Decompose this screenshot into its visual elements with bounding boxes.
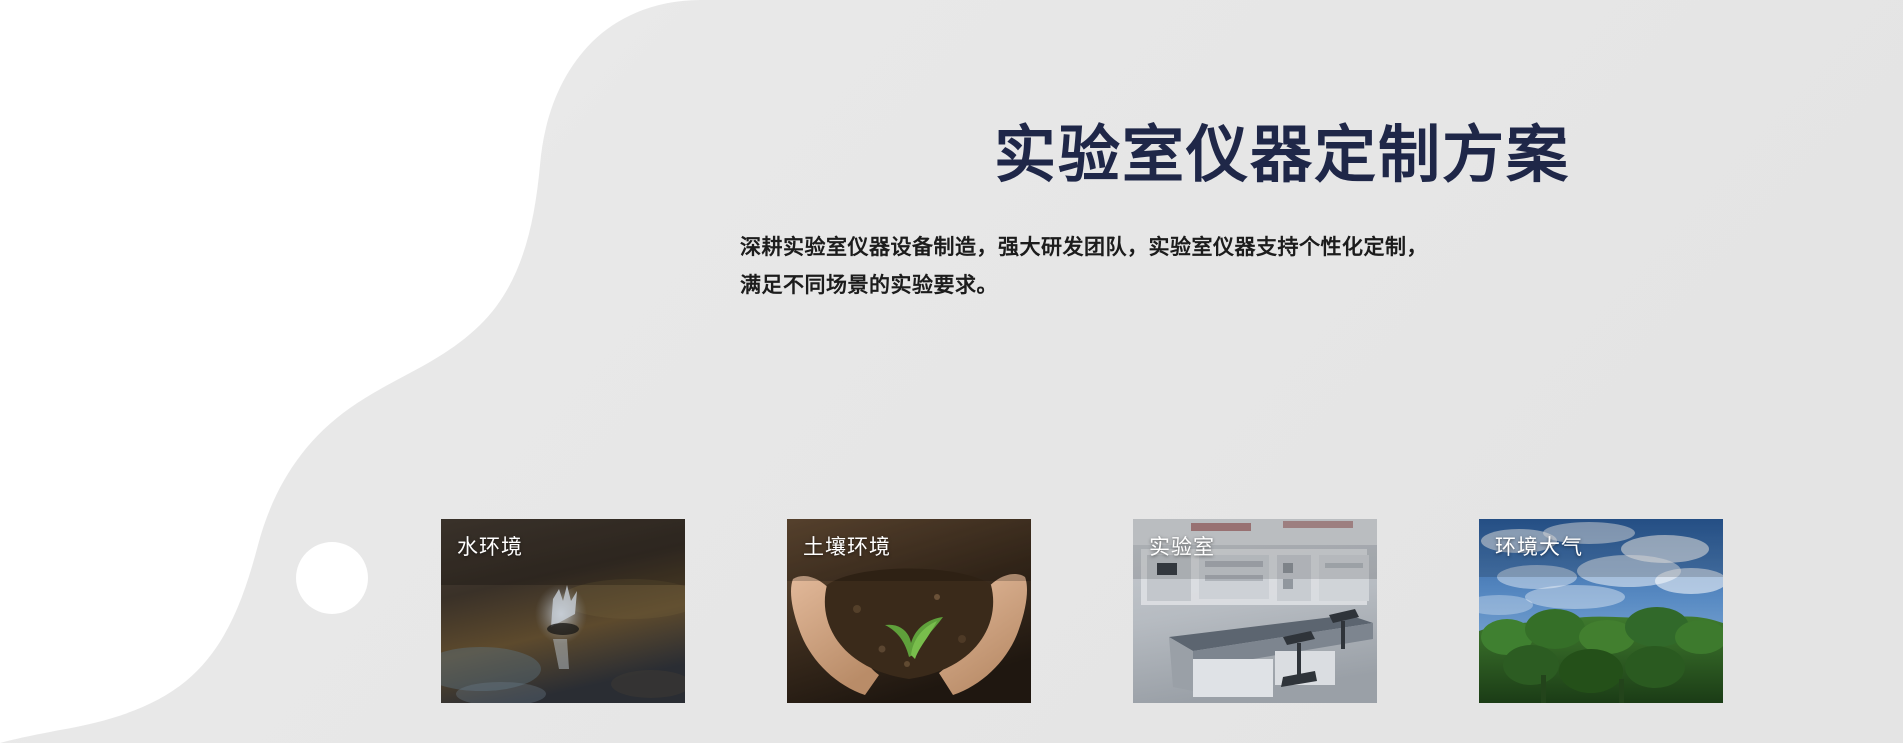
card-label: 实验室: [1149, 531, 1215, 561]
card-laboratory[interactable]: 实验室: [1133, 519, 1377, 703]
headline-block: 实验室仪器定制方案 深耕实验室仪器设备制造，强大研发团队，实验室仪器支持个性化定…: [740, 120, 1740, 304]
subtitle-line-1: 深耕实验室仪器设备制造，强大研发团队，实验室仪器支持个性化定制，: [740, 229, 1560, 266]
card-atmospheric-environment[interactable]: 环境大气: [1479, 519, 1723, 703]
page-title: 实验室仪器定制方案: [740, 120, 1740, 191]
card-water-environment[interactable]: 水环境: [441, 519, 685, 703]
subtitle: 深耕实验室仪器设备制造，强大研发团队，实验室仪器支持个性化定制， 满足不同场景的…: [740, 229, 1560, 304]
card-label: 土壤环境: [803, 531, 891, 561]
card-soil-environment[interactable]: 土壤环境: [787, 519, 1031, 703]
category-card-list: 水环境: [441, 519, 1723, 703]
card-label: 水环境: [457, 531, 523, 561]
laboratory-instrument-banner: 实验室仪器定制方案 深耕实验室仪器设备制造，强大研发团队，实验室仪器支持个性化定…: [0, 0, 1903, 743]
subtitle-line-2: 满足不同场景的实验要求。: [740, 267, 1560, 304]
card-label: 环境大气: [1495, 531, 1583, 561]
